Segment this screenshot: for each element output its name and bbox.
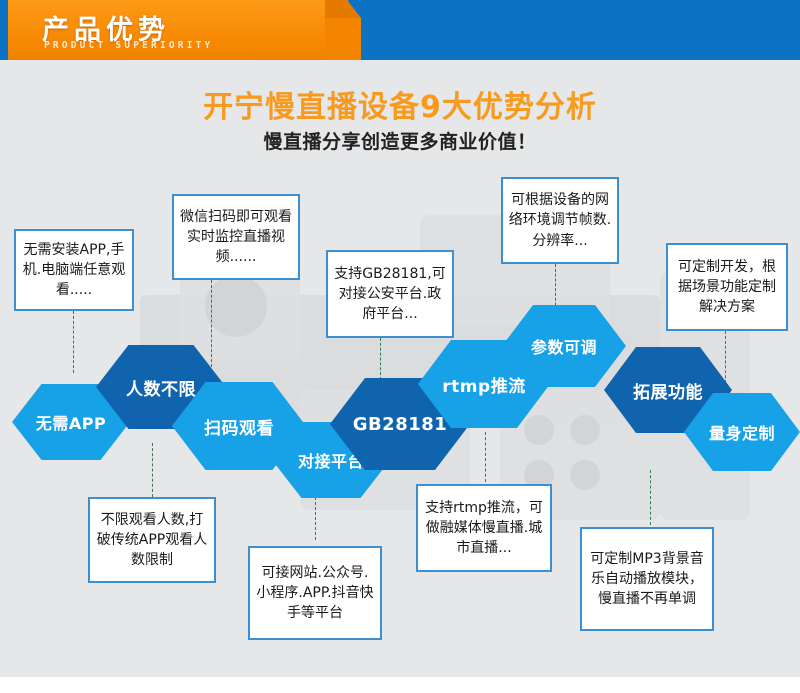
callout-text: 支持rtmp推流，可做融媒体慢直播.城市直播... bbox=[423, 498, 545, 559]
banner-title-en: PRODUCT SUPERIORITY bbox=[44, 40, 213, 51]
callout-text: 可根据设备的网络环境调节帧数.分辨率... bbox=[508, 190, 612, 251]
connector-line-9 bbox=[650, 470, 651, 525]
connector-line-6 bbox=[152, 443, 153, 497]
connector-line-7 bbox=[315, 492, 316, 540]
callout-no-app-install[interactable]: 无需安装APP,手机.电脑端任意观看..... bbox=[14, 229, 134, 311]
callout-text: 可定制MP3背景音乐自动播放模块，慢直播不再单调 bbox=[587, 549, 707, 610]
hexagon-label: 量身定制 bbox=[709, 420, 775, 444]
page-title: 开宁慢直播设备9大优势分析 bbox=[0, 82, 800, 126]
callout-unlimited-viewers[interactable]: 不限观看人数,打破传统APP观看人数限制 bbox=[88, 497, 216, 583]
hexagon-label: 扫码观看 bbox=[204, 414, 274, 439]
hexagon-label: rtmp推流 bbox=[442, 372, 525, 397]
callout-platform-channels[interactable]: 可接网站.公众号.小程序.APP.抖音快手等平台 bbox=[248, 546, 382, 640]
callout-custom-development[interactable]: 可定制开发，根据场景功能定制解决方案 bbox=[666, 243, 788, 331]
callout-text: 可定制开发，根据场景功能定制解决方案 bbox=[673, 257, 781, 318]
connector-line-1 bbox=[73, 311, 74, 373]
background-led-2 bbox=[570, 415, 600, 445]
hexagon-label: 参数可调 bbox=[531, 334, 597, 358]
callout-wechat-scan[interactable]: 微信扫码即可观看实时监控直播视频...... bbox=[172, 194, 300, 280]
callout-network-adaptive[interactable]: 可根据设备的网络环境调节帧数.分辨率... bbox=[501, 177, 619, 264]
hexagon-label: GB28181 bbox=[353, 414, 448, 435]
background-led-4 bbox=[570, 460, 600, 490]
callout-text: 支持GB28181,可对接公安平台.政府平台... bbox=[333, 264, 447, 325]
hexagon-label: 人数不限 bbox=[126, 375, 196, 400]
callout-text: 微信扫码即可观看实时监控直播视频...... bbox=[179, 207, 293, 268]
callout-text: 无需安装APP,手机.电脑端任意观看..... bbox=[21, 240, 127, 301]
callout-text: 不限观看人数,打破传统APP观看人数限制 bbox=[95, 510, 209, 571]
background-lens-1 bbox=[205, 275, 267, 337]
hexagon-label: 无需APP bbox=[36, 410, 106, 434]
page-subtitle: 慢直播分享创造更多商业价值！ bbox=[0, 127, 800, 154]
callout-gb28181-support[interactable]: 支持GB28181,可对接公安平台.政府平台... bbox=[326, 250, 454, 338]
connector-line-2 bbox=[211, 280, 212, 372]
page-banner: 产品优势 PRODUCT SUPERIORITY bbox=[0, 0, 800, 60]
callout-rtmp-media[interactable]: 支持rtmp推流，可做融媒体慢直播.城市直播... bbox=[416, 484, 552, 572]
connector-line-3 bbox=[380, 338, 381, 380]
callout-mp3-background-music[interactable]: 可定制MP3背景音乐自动播放模块，慢直播不再单调 bbox=[580, 527, 714, 631]
bottom-white-strip bbox=[0, 677, 800, 685]
background-led-1 bbox=[524, 415, 554, 445]
connector-line-8 bbox=[485, 432, 486, 482]
infographic-page: 产品优势 PRODUCT SUPERIORITY Opening开宁 Openi… bbox=[0, 0, 800, 693]
callout-text: 可接网站.公众号.小程序.APP.抖音快手等平台 bbox=[255, 563, 375, 624]
hexagon-label: 拓展功能 bbox=[633, 378, 703, 403]
